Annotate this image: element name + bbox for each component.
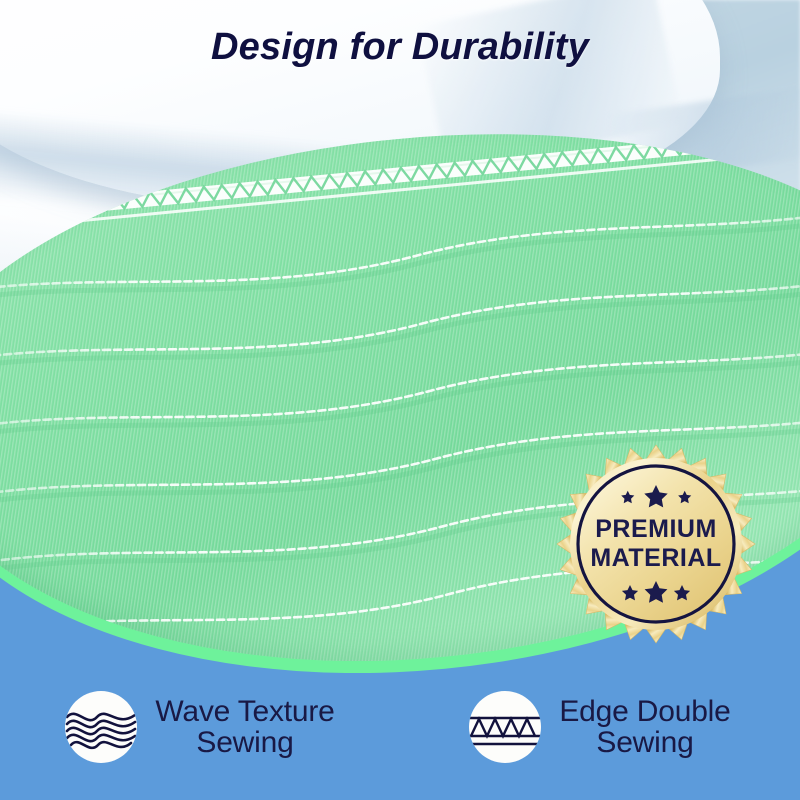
wave-lines-icon <box>65 691 137 763</box>
zigzag-stitch-icon <box>469 691 541 763</box>
feature-label-wave: Wave Texture Sewing <box>155 696 334 759</box>
page-title: Design for Durability <box>0 26 800 69</box>
feature-edge-double-sewing: Edge Double Sewing <box>400 691 800 763</box>
product-marketing-image: Design for Durability <box>0 0 800 800</box>
badge-seal-icon <box>556 444 756 644</box>
feature-label-edge: Edge Double Sewing <box>559 696 730 759</box>
premium-material-badge: PREMIUM MATERIAL <box>556 444 756 644</box>
feature-wave-texture-sewing: Wave Texture Sewing <box>0 691 400 763</box>
feature-row: Wave Texture Sewing Edge Double Sewing <box>0 672 800 782</box>
